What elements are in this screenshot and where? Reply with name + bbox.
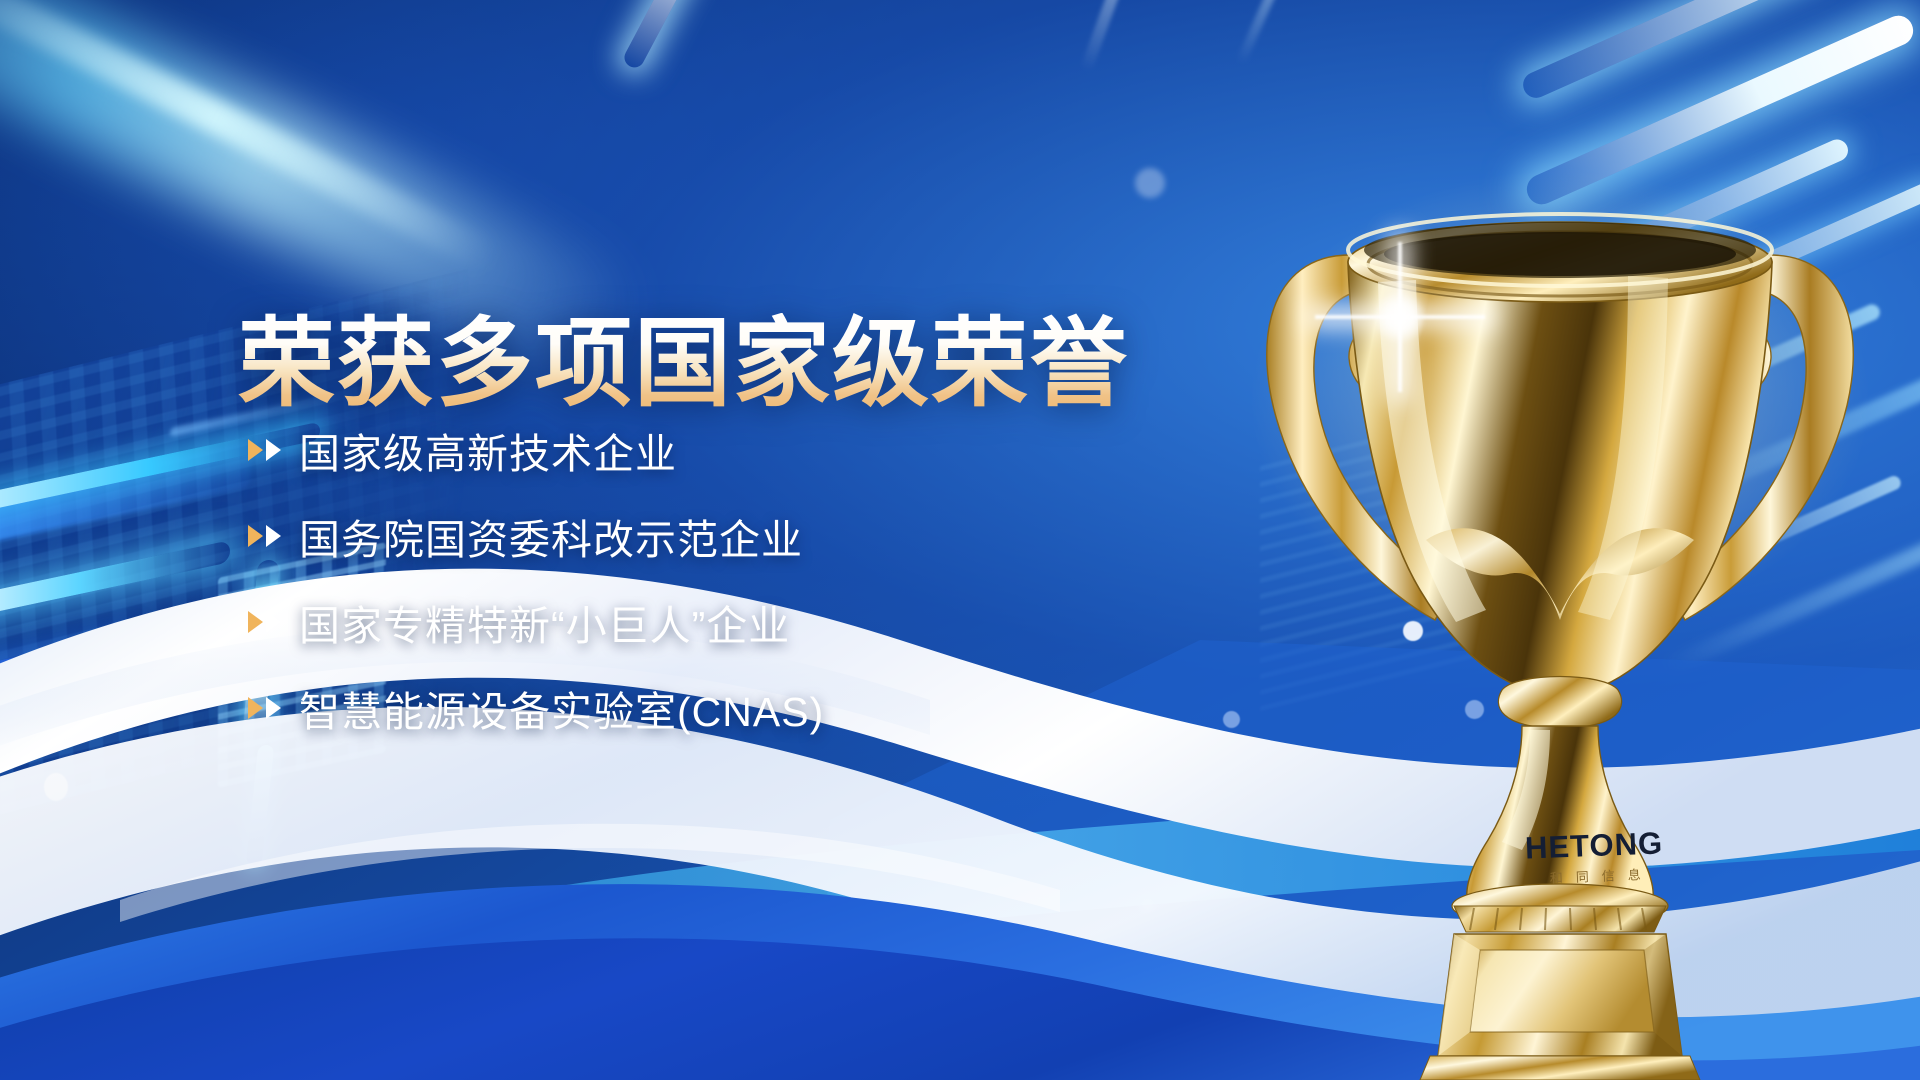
- light-streak-icon: [1519, 0, 1831, 102]
- list-item-label: 国务院国资委科改示范企业: [299, 506, 803, 566]
- triangle-white-icon: [266, 611, 281, 633]
- triangle-gold-icon: [248, 611, 263, 633]
- list-item: 国务院国资委科改示范企业: [248, 504, 824, 568]
- honors-banner: HETONG 和同信息 荣获多项国家级荣誉 国家级高新技术企业 国务院国资委科改…: [0, 0, 1920, 1080]
- trophy-foot: [1420, 1056, 1700, 1080]
- triangle-gold-icon: [248, 439, 263, 461]
- double-arrow-icon: [248, 525, 281, 547]
- light-streak-icon: [1236, 0, 1314, 65]
- triangle-gold-icon: [248, 525, 263, 547]
- double-arrow-icon: [248, 439, 281, 461]
- triangle-white-icon: [266, 525, 281, 547]
- list-item: 智慧能源设备实验室(CNAS): [248, 676, 824, 740]
- trophy-graphic: [1230, 150, 1920, 1080]
- list-item: 国家专精特新“小巨人”企业: [248, 590, 824, 654]
- honors-list: 国家级高新技术企业 国务院国资委科改示范企业 国家专精特新“小巨人”企业: [248, 418, 824, 762]
- list-item-label: 智慧能源设备实验室(CNAS): [299, 678, 824, 738]
- triangle-white-icon: [266, 439, 281, 461]
- double-arrow-icon: [248, 697, 281, 719]
- page-title: 荣获多项国家级荣誉: [238, 313, 1129, 416]
- list-item: 国家级高新技术企业: [248, 418, 824, 482]
- list-item-label: 国家级高新技术企业: [299, 420, 677, 480]
- trophy-plate-text: HETONG 和同信息: [1486, 824, 1703, 889]
- list-item-label: 国家专精特新“小巨人”企业: [299, 592, 790, 652]
- double-arrow-icon: [248, 611, 281, 633]
- banner-copy: 荣获多项国家级荣誉 国家级高新技术企业 国务院国资委科改示范企业: [0, 0, 1200, 1080]
- triangle-white-icon: [266, 697, 281, 719]
- triangle-gold-icon: [248, 697, 263, 719]
- trophy-nameplate: [1470, 950, 1654, 1032]
- trophy-brand-en: HETONG: [1486, 824, 1702, 868]
- trophy-knot: [1498, 677, 1621, 729]
